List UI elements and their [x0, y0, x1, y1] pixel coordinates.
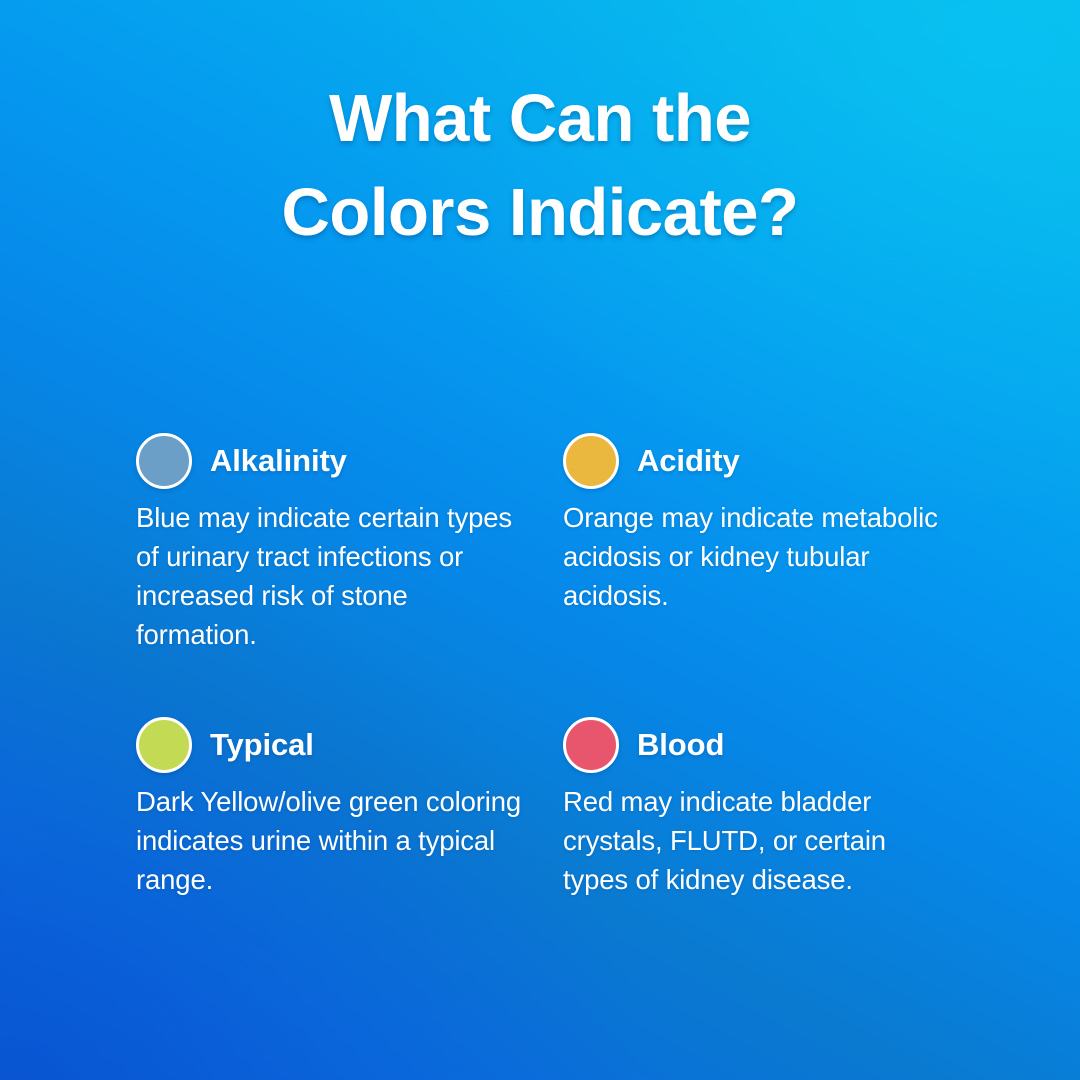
legend-item-header: Typical [136, 714, 563, 776]
poster-title-line-2: Colors Indicate? [60, 166, 1020, 260]
legend-item-header: Acidity [563, 430, 972, 492]
circle-swatch-green-icon [136, 717, 192, 773]
circle-swatch-orange-icon [563, 433, 619, 489]
legend-item-description: Dark Yellow/olive green coloring indicat… [136, 782, 531, 899]
legend-item-typical: Typical Dark Yellow/olive green coloring… [136, 714, 563, 899]
legend-item-title: Typical [210, 728, 314, 762]
poster-title: What Can the Colors Indicate? [0, 72, 1080, 260]
legend-item-acidity: Acidity Orange may indicate metabolic ac… [563, 430, 972, 654]
legend-item-description: Orange may indicate metabolic acidosis o… [563, 498, 958, 615]
infographic-poster: What Can the Colors Indicate? Alkalinity… [0, 0, 1080, 1080]
legend-item-description: Red may indicate bladder crystals, FLUTD… [563, 782, 958, 899]
legend-item-title: Alkalinity [210, 444, 347, 478]
legend-item-alkalinity: Alkalinity Blue may indicate certain typ… [136, 430, 563, 654]
legend-item-header: Alkalinity [136, 430, 563, 492]
color-legend-grid: Alkalinity Blue may indicate certain typ… [136, 430, 972, 899]
poster-title-line-1: What Can the [60, 72, 1020, 166]
circle-swatch-red-icon [563, 717, 619, 773]
circle-swatch-blue-icon [136, 433, 192, 489]
legend-item-title: Acidity [637, 444, 740, 478]
legend-item-blood: Blood Red may indicate bladder crystals,… [563, 714, 972, 899]
legend-item-header: Blood [563, 714, 972, 776]
legend-item-title: Blood [637, 728, 724, 762]
legend-item-description: Blue may indicate certain types of urina… [136, 498, 531, 654]
